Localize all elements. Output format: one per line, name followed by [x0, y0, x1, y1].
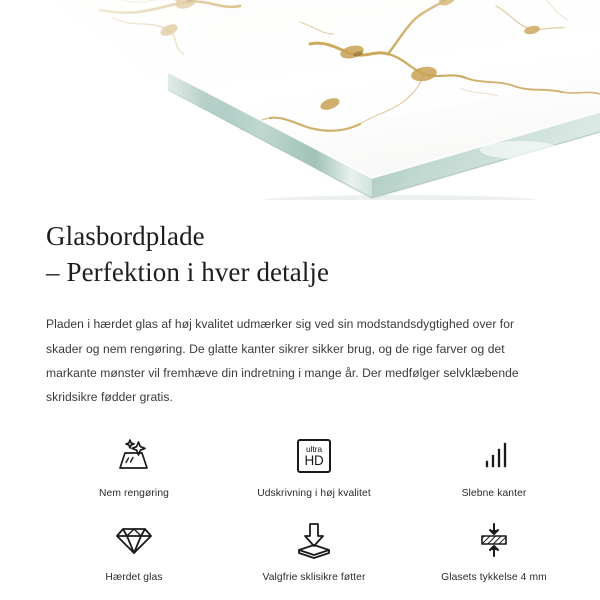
feature-item-print-quality: ultra HD Udskrivning i høj kvalitet — [224, 435, 404, 519]
polished-edges-icon — [477, 435, 511, 477]
feature-item-polished-edges: Slebne kanter — [404, 435, 584, 519]
ultra-hd-top-label: ultra — [306, 445, 322, 454]
feature-grid: Nem rengøring ultra HD Udskrivning i høj… — [44, 435, 584, 600]
glass-thickness-icon — [475, 519, 513, 561]
page-title: Glasbordplade – Perfektion i hver detalj… — [46, 218, 554, 290]
product-description-text: Pladen i hærdet glas af høj kvalitet udm… — [46, 312, 554, 409]
feature-label-anti-slip-feet: Valgfrie sklisikre føtter — [262, 571, 365, 584]
ultra-hd-icon: ultra HD — [297, 435, 331, 477]
feature-label-polished-edges: Slebne kanter — [462, 487, 527, 500]
feature-label-tempered-glass: Hærdet glas — [105, 571, 162, 584]
product-description-page: Glasbordplade – Perfektion i hver detalj… — [0, 0, 600, 600]
sparkle-clean-icon — [114, 435, 154, 477]
content-area: Glasbordplade – Perfektion i hver detalj… — [0, 200, 600, 600]
feature-label-easy-cleaning: Nem rengøring — [99, 487, 169, 500]
anti-slip-feet-icon — [295, 519, 333, 561]
diamond-icon — [115, 519, 153, 561]
feature-item-anti-slip-feet: Valgfrie sklisikre føtter — [224, 519, 404, 600]
feature-label-glass-thickness: Glasets tykkelse 4 mm — [441, 571, 547, 584]
feature-item-tempered-glass: Hærdet glas — [44, 519, 224, 600]
ultra-hd-bottom-label: HD — [305, 454, 324, 468]
glass-tabletop-illustration — [0, 0, 600, 200]
feature-label-print-quality: Udskrivning i høj kvalitet — [257, 487, 371, 500]
feature-item-easy-cleaning: Nem rengøring — [44, 435, 224, 519]
hero-image — [0, 0, 600, 200]
feature-item-glass-thickness: Glasets tykkelse 4 mm — [404, 519, 584, 600]
